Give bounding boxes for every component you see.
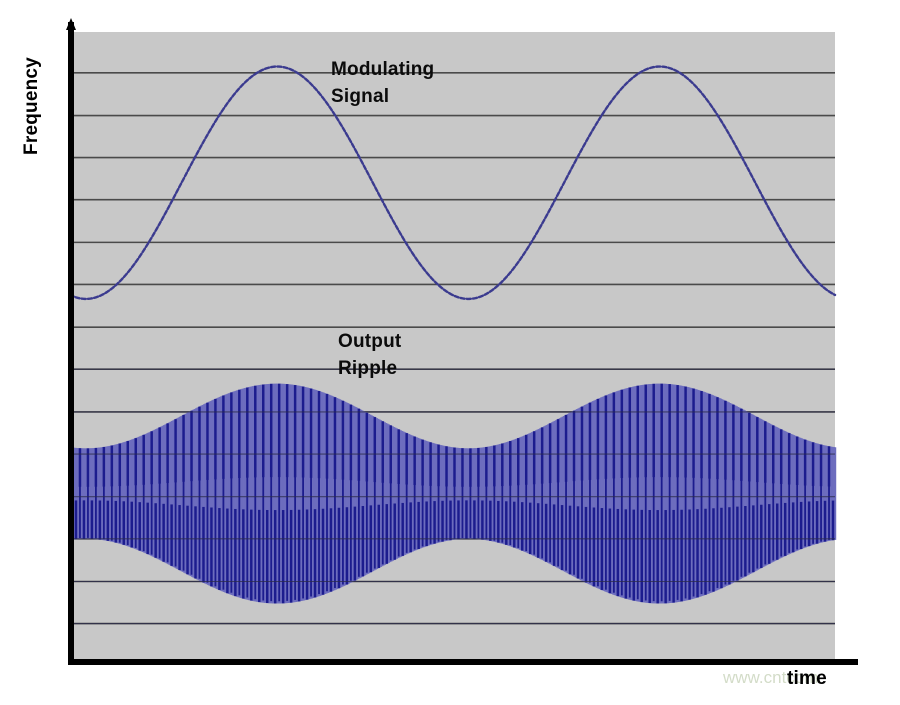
ripple-carrier-stroke <box>107 501 109 541</box>
ripple-peak-spike <box>215 401 217 586</box>
ripple-carrier-stroke <box>306 509 308 599</box>
ripple-peak-spike <box>621 392 623 596</box>
ripple-peak-spike <box>748 414 750 572</box>
ripple-peak-spike <box>111 446 113 540</box>
ripple-carrier-stroke <box>242 509 244 598</box>
ripple-carrier-stroke <box>409 502 411 552</box>
ripple-carrier-stroke <box>449 501 451 541</box>
ripple-peak-spike <box>764 423 766 565</box>
ripple-peak-spike <box>645 387 647 601</box>
ripple-carrier-stroke <box>481 500 483 539</box>
ripple-carrier-stroke <box>83 500 85 538</box>
ripple-peak-spike <box>302 389 304 599</box>
ripple-carrier-stroke <box>91 500 93 539</box>
ripple-carrier-stroke <box>800 502 802 549</box>
ripple-peak-spike <box>733 406 735 580</box>
ripple-carrier-stroke <box>656 510 658 603</box>
ripple-carrier-stroke <box>792 502 794 552</box>
ripple-peak-spike <box>788 434 790 553</box>
ripple-carrier-stroke <box>489 501 491 541</box>
ripple-carrier-stroke <box>202 507 204 583</box>
ripple-peak-spike <box>103 448 105 539</box>
ripple-peak-spike <box>87 449 89 538</box>
ripple-carrier-stroke <box>210 508 212 587</box>
ripple-carrier-stroke <box>696 509 698 597</box>
ripple-peak-spike <box>199 408 201 578</box>
ripple-carrier-stroke <box>115 501 117 543</box>
ripple-peak-spike <box>780 431 782 557</box>
ripple-peak-spike <box>95 449 97 538</box>
ripple-carrier-stroke <box>672 510 674 603</box>
ripple-carrier-stroke <box>736 507 738 581</box>
ripple-carrier-stroke <box>170 504 172 565</box>
ripple-carrier-stroke <box>497 501 499 543</box>
ripple-carrier-stroke <box>537 503 539 558</box>
ripple-carrier-stroke <box>250 510 252 601</box>
ripple-carrier-stroke <box>832 501 834 541</box>
ripple-carrier-stroke <box>609 509 611 594</box>
ripple-carrier-stroke <box>162 504 164 562</box>
ripple-peak-spike <box>525 436 527 551</box>
ripple-carrier-stroke <box>728 507 730 584</box>
ripple-carrier-stroke <box>593 508 595 587</box>
ripple-carrier-stroke <box>346 507 348 584</box>
ripple-carrier-stroke <box>226 509 228 594</box>
ripple-carrier-stroke <box>330 508 332 591</box>
ripple-carrier-stroke <box>776 504 778 560</box>
ripple-carrier-stroke <box>75 500 77 539</box>
ripple-peak-spike <box>478 449 480 538</box>
modulating-signal-label: Modulating Signal <box>331 57 434 111</box>
ripple-peak-spike <box>637 388 639 599</box>
ripple-peak-spike <box>390 427 392 561</box>
ripple-carrier-stroke <box>401 503 403 556</box>
ripple-carrier-stroke <box>617 509 619 596</box>
ripple-peak-spike <box>717 399 719 588</box>
ripple-carrier-stroke <box>529 503 531 554</box>
ripple-carrier-stroke <box>234 509 236 596</box>
ripple-peak-spike <box>485 448 487 539</box>
ripple-carrier-stroke <box>680 510 682 602</box>
ripple-peak-spike <box>501 444 503 542</box>
ripple-peak-spike <box>685 389 687 599</box>
ripple-peak-spike <box>756 419 758 569</box>
ripple-peak-spike <box>446 447 448 540</box>
ripple-carrier-stroke <box>274 510 276 603</box>
ripple-peak-spike <box>740 410 742 576</box>
ripple-peak-spike <box>127 442 129 545</box>
ripple-peak-spike <box>310 391 312 597</box>
ripple-carrier-stroke <box>441 501 443 542</box>
ripple-peak-spike <box>812 443 814 543</box>
ripple-carrier-stroke <box>760 505 762 568</box>
ripple-peak-spike <box>398 431 400 557</box>
ripple-peak-spike <box>246 390 248 598</box>
ripple-carrier-stroke <box>314 509 316 597</box>
ripple-peak-spike <box>677 387 679 600</box>
output-ripple-label: Output Ripple <box>338 329 401 383</box>
ripple-carrier-stroke <box>577 506 579 578</box>
ripple-peak-spike <box>79 449 81 538</box>
ripple-peak-spike <box>517 439 519 548</box>
ripple-carrier-stroke <box>290 510 292 603</box>
ripple-peak-spike <box>238 392 240 596</box>
ripple-peak-spike <box>430 443 432 543</box>
ripple-carrier-stroke <box>425 501 427 546</box>
ripple-peak-spike <box>119 444 121 542</box>
ripple-peak-spike <box>565 417 567 571</box>
ripple-carrier-stroke <box>417 502 419 549</box>
ripple-peak-spike <box>422 441 424 547</box>
ripple-peak-spike <box>557 421 559 567</box>
ripple-carrier-stroke <box>178 505 180 570</box>
ripple-carrier-stroke <box>641 510 643 602</box>
ripple-carrier-stroke <box>99 500 101 539</box>
ripple-carrier-stroke <box>545 504 547 562</box>
ripple-peak-spike <box>286 386 288 601</box>
ripple-carrier-stroke <box>218 508 220 590</box>
ripple-peak-spike <box>597 401 599 586</box>
ripple-peak-spike <box>804 441 806 547</box>
ripple-carrier-stroke <box>146 503 148 554</box>
ripple-carrier-stroke <box>816 501 818 544</box>
ripple-carrier-stroke <box>569 506 571 575</box>
chart-figure: Frequency www.cntcom time Modulating Sig… <box>0 0 900 700</box>
ripple-carrier-stroke <box>131 502 133 548</box>
ripple-carrier-stroke <box>186 506 188 575</box>
ripple-peak-spike <box>350 406 352 580</box>
ripple-peak-spike <box>454 448 456 538</box>
ripple-carrier-stroke <box>386 504 388 564</box>
ripple-peak-spike <box>374 419 376 569</box>
ripple-carrier-stroke <box>744 506 746 576</box>
ripple-peak-spike <box>653 386 655 601</box>
ripple-peak-spike <box>533 433 535 555</box>
ripple-peak-spike <box>605 397 607 589</box>
ripple-peak-spike <box>462 449 464 538</box>
ripple-peak-spike <box>725 403 727 585</box>
ripple-peak-spike <box>382 423 384 565</box>
ripple-peak-spike <box>549 425 551 563</box>
ripple-peak-spike <box>278 386 280 601</box>
ripple-peak-spike <box>509 442 511 545</box>
ripple-peak-spike <box>230 394 232 592</box>
ripple-peak-spike <box>183 417 185 571</box>
ripple-carrier-stroke <box>378 505 380 568</box>
ripple-carrier-stroke <box>664 510 666 603</box>
ripple-peak-spike <box>438 446 440 542</box>
ripple-peak-spike <box>135 439 137 548</box>
ripple-carrier-stroke <box>513 502 515 548</box>
ripple-peak-spike <box>613 394 615 592</box>
ripple-carrier-stroke <box>138 502 140 550</box>
ripple-carrier-stroke <box>282 510 284 603</box>
ripple-carrier-stroke <box>521 502 523 550</box>
ripple-carrier-stroke <box>784 503 786 556</box>
ripple-carrier-stroke <box>553 504 555 565</box>
ripple-peak-spike <box>318 393 320 594</box>
ripple-carrier-stroke <box>648 510 650 603</box>
ripple-carrier-stroke <box>561 505 563 570</box>
ripple-peak-spike <box>167 425 169 563</box>
ripple-carrier-stroke <box>465 500 467 538</box>
ripple-carrier-stroke <box>362 506 364 576</box>
ripple-carrier-stroke <box>625 509 627 598</box>
ripple-carrier-stroke <box>720 508 722 588</box>
ripple-peak-spike <box>223 397 225 589</box>
ripple-carrier-stroke <box>354 507 356 581</box>
ripple-peak-spike <box>493 446 495 540</box>
ripple-peak-spike <box>470 449 472 538</box>
ripple-carrier-stroke <box>585 507 587 583</box>
ripple-peak-spike <box>629 390 631 598</box>
ripple-peak-spike <box>573 412 575 574</box>
ripple-peak-spike <box>406 434 408 553</box>
ripple-peak-spike <box>143 436 145 551</box>
ripple-peak-spike <box>175 421 177 567</box>
ripple-peak-spike <box>366 414 368 572</box>
ripple-peak-spike <box>828 447 830 540</box>
ripple-carrier-stroke <box>338 508 340 588</box>
ripple-carrier-stroke <box>601 508 603 590</box>
ripple-carrier-stroke <box>824 501 826 542</box>
ripple-peak-spike <box>207 404 209 582</box>
ripple-carrier-stroke <box>266 510 268 603</box>
ripple-peak-spike <box>191 412 193 574</box>
ripple-peak-spike <box>693 391 695 597</box>
ripple-peak-spike <box>581 408 583 578</box>
ripple-peak-spike <box>151 433 153 555</box>
ripple-peak-spike <box>772 427 774 561</box>
ripple-carrier-stroke <box>768 504 770 564</box>
chart-canvas <box>0 0 900 700</box>
ripple-peak-spike <box>661 386 663 601</box>
ripple-carrier-stroke <box>688 509 690 599</box>
ripple-peak-spike <box>709 396 711 591</box>
ripple-peak-spike <box>294 387 296 600</box>
ripple-peak-spike <box>254 388 256 599</box>
ripple-carrier-stroke <box>633 510 635 601</box>
ripple-carrier-stroke <box>808 501 810 546</box>
ripple-carrier-stroke <box>194 506 196 578</box>
ripple-peak-spike <box>342 403 344 585</box>
ripple-carrier-stroke <box>258 510 260 602</box>
ripple-carrier-stroke <box>393 504 395 560</box>
ripple-carrier-stroke <box>298 510 300 602</box>
ripple-peak-spike <box>334 399 336 588</box>
ripple-carrier-stroke <box>473 500 475 539</box>
ripple-peak-spike <box>326 396 328 591</box>
watermark-prefix: www.cnt <box>723 668 786 687</box>
ripple-carrier-stroke <box>154 503 156 558</box>
ripple-peak-spike <box>358 410 360 576</box>
ripple-peak-spike <box>701 393 703 594</box>
ripple-peak-spike <box>270 386 272 601</box>
ripple-peak-spike <box>820 446 822 542</box>
ripple-peak-spike <box>262 387 264 601</box>
x-axis-label: time <box>787 668 827 690</box>
ripple-carrier-stroke <box>433 501 435 544</box>
ripple-carrier-stroke <box>712 508 714 591</box>
ripple-peak-spike <box>669 386 671 601</box>
ripple-carrier-stroke <box>457 500 459 539</box>
ripple-peak-spike <box>589 404 591 582</box>
